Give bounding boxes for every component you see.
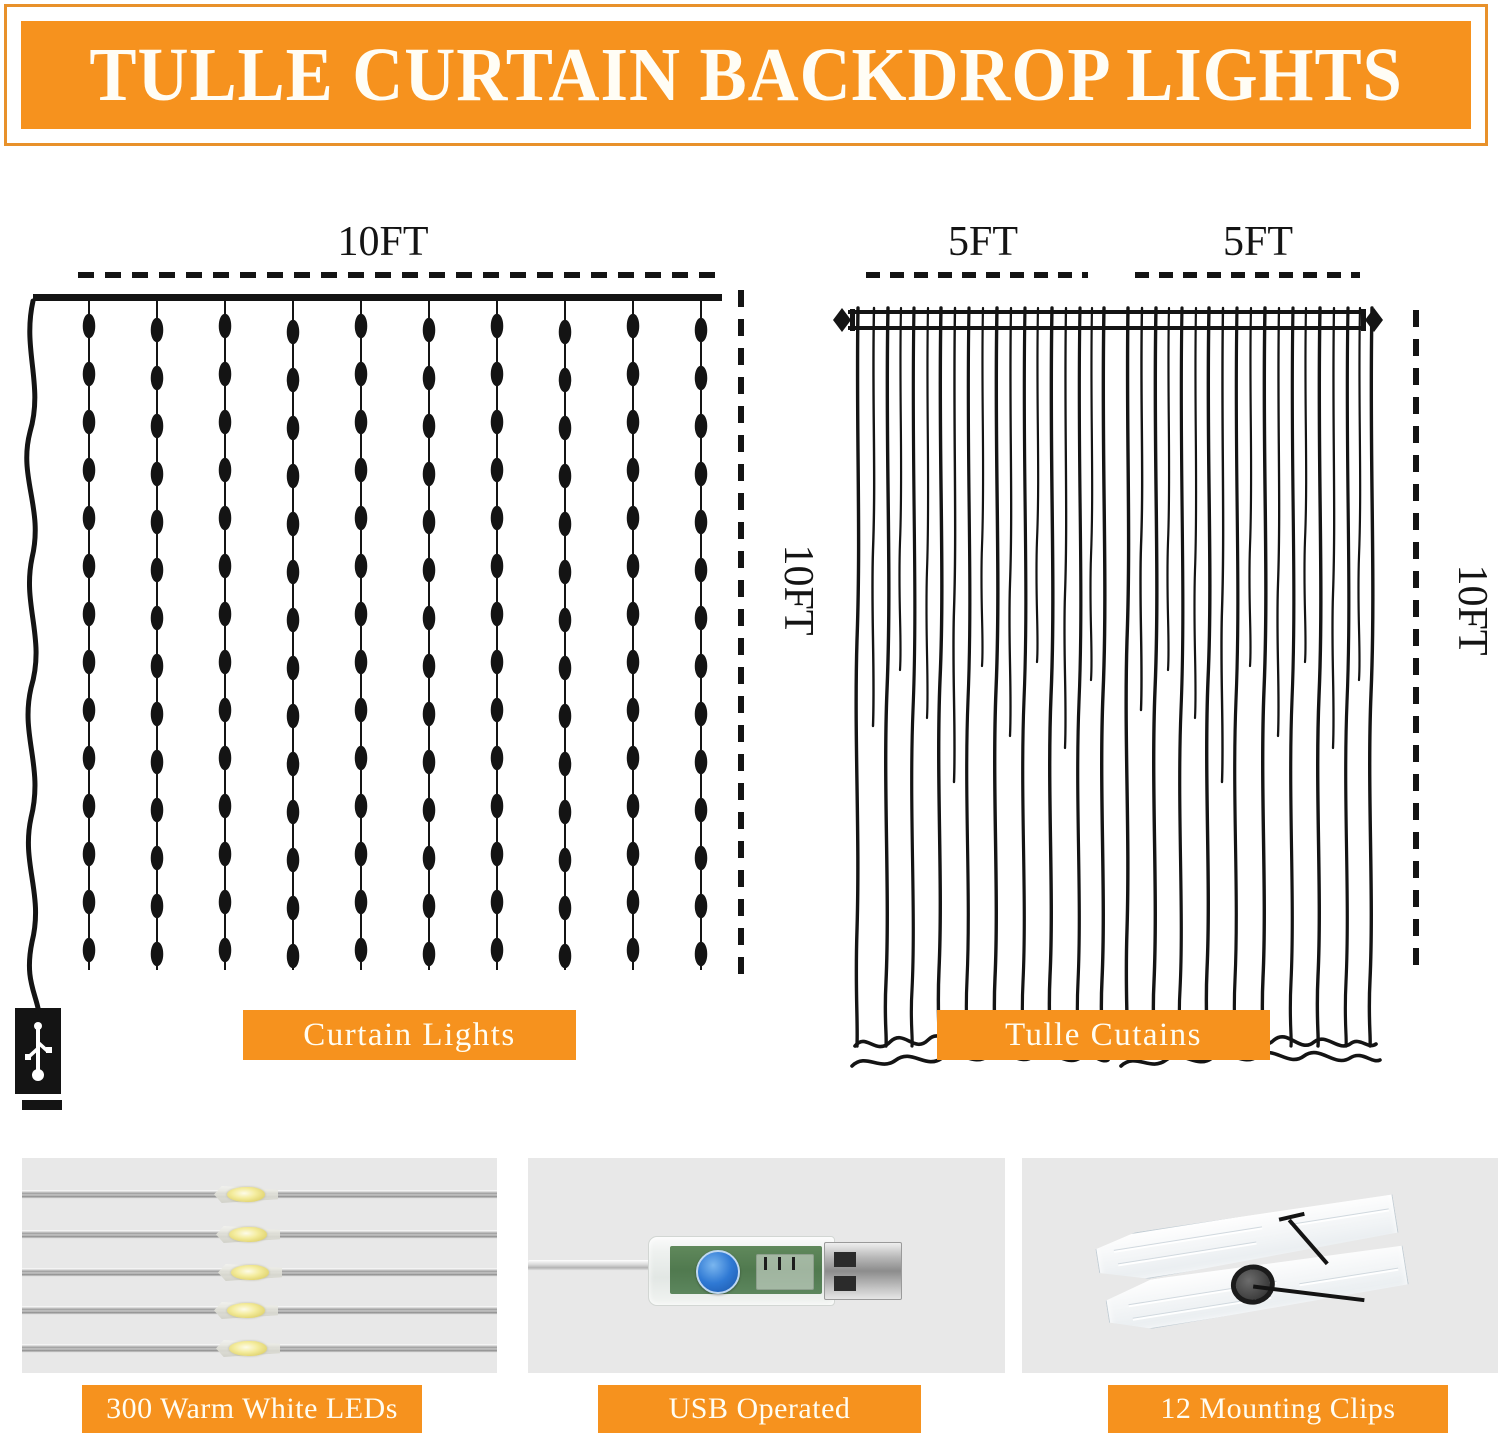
caption-12-mounting-clips: 12 Mounting Clips <box>1108 1385 1448 1433</box>
led-bulb <box>227 1303 265 1318</box>
caption-usb-operated: USB Operated <box>598 1385 921 1433</box>
header-banner: TULLE CURTAIN BACKDROP LIGHTS <box>21 21 1471 129</box>
power-lead-wire <box>27 301 38 1008</box>
height-label-10ft-left: 10FT <box>775 544 821 635</box>
usb-a-connector <box>824 1242 902 1300</box>
light-strand <box>356 301 366 970</box>
led-wire-row <box>22 1344 497 1353</box>
curtain-lights-diagram: 10FT <box>15 219 821 1110</box>
header-banner-frame: TULLE CURTAIN BACKDROP LIGHTS <box>4 4 1488 146</box>
light-strand <box>424 301 434 970</box>
usb-contact-slot <box>834 1276 856 1291</box>
diagram-area: 10FT <box>0 170 1500 1110</box>
tulle-curtains-diagram: 5FT 5FT <box>833 219 1495 1066</box>
mounting-clip-photo <box>1022 1158 1498 1373</box>
mounting-clip <box>1093 1186 1417 1345</box>
light-strand <box>152 301 162 970</box>
panel-label-5ft-left: 5FT <box>948 219 1018 265</box>
light-header-rail <box>33 294 722 301</box>
product-diagrams-svg: 10FT <box>0 170 1500 1110</box>
light-strand <box>220 301 230 970</box>
tulle-panel-right <box>1121 308 1380 1066</box>
usb-contact-slot <box>834 1252 856 1267</box>
caption-tulle-curtains: Tulle Cutains <box>937 1010 1270 1060</box>
usb-connector-photo <box>528 1158 1005 1373</box>
height-label-10ft-right: 10FT <box>1449 564 1495 655</box>
caption-curtain-lights: Curtain Lights <box>243 1010 576 1060</box>
led-wire-row <box>22 1306 497 1315</box>
led-bulb <box>229 1341 267 1356</box>
feature-cell-clips <box>1022 1158 1498 1373</box>
light-strands <box>84 301 706 970</box>
usb-component-leg <box>778 1257 781 1270</box>
light-strand <box>288 301 298 970</box>
tulle-panel-left <box>852 308 1108 1066</box>
led-wire-row <box>22 1190 497 1199</box>
caption-300-warm-white-leds: 300 Warm White LEDs <box>82 1385 422 1433</box>
led-wire-row <box>22 1230 497 1239</box>
light-strand <box>84 301 94 970</box>
led-bulb <box>227 1187 265 1202</box>
led-bulb <box>229 1227 267 1242</box>
light-strand <box>492 301 502 970</box>
usb-plug-icon <box>15 1008 62 1110</box>
usb-cable <box>528 1260 658 1271</box>
light-strand <box>560 301 570 970</box>
led-wire-photo <box>22 1158 497 1373</box>
led-wire-row <box>22 1268 497 1277</box>
page-title: TULLE CURTAIN BACKDROP LIGHTS <box>89 37 1402 113</box>
usb-component-leg <box>792 1257 795 1270</box>
feature-cell-usb <box>528 1158 1005 1373</box>
panel-label-5ft-right: 5FT <box>1223 219 1293 265</box>
usb-component-leg <box>764 1257 767 1270</box>
led-bulb <box>231 1265 269 1280</box>
feature-cell-leds <box>22 1158 497 1373</box>
usb-mode-button[interactable] <box>696 1250 740 1294</box>
width-label-10ft: 10FT <box>337 219 428 265</box>
light-strand <box>628 301 638 970</box>
light-strand <box>696 301 706 970</box>
